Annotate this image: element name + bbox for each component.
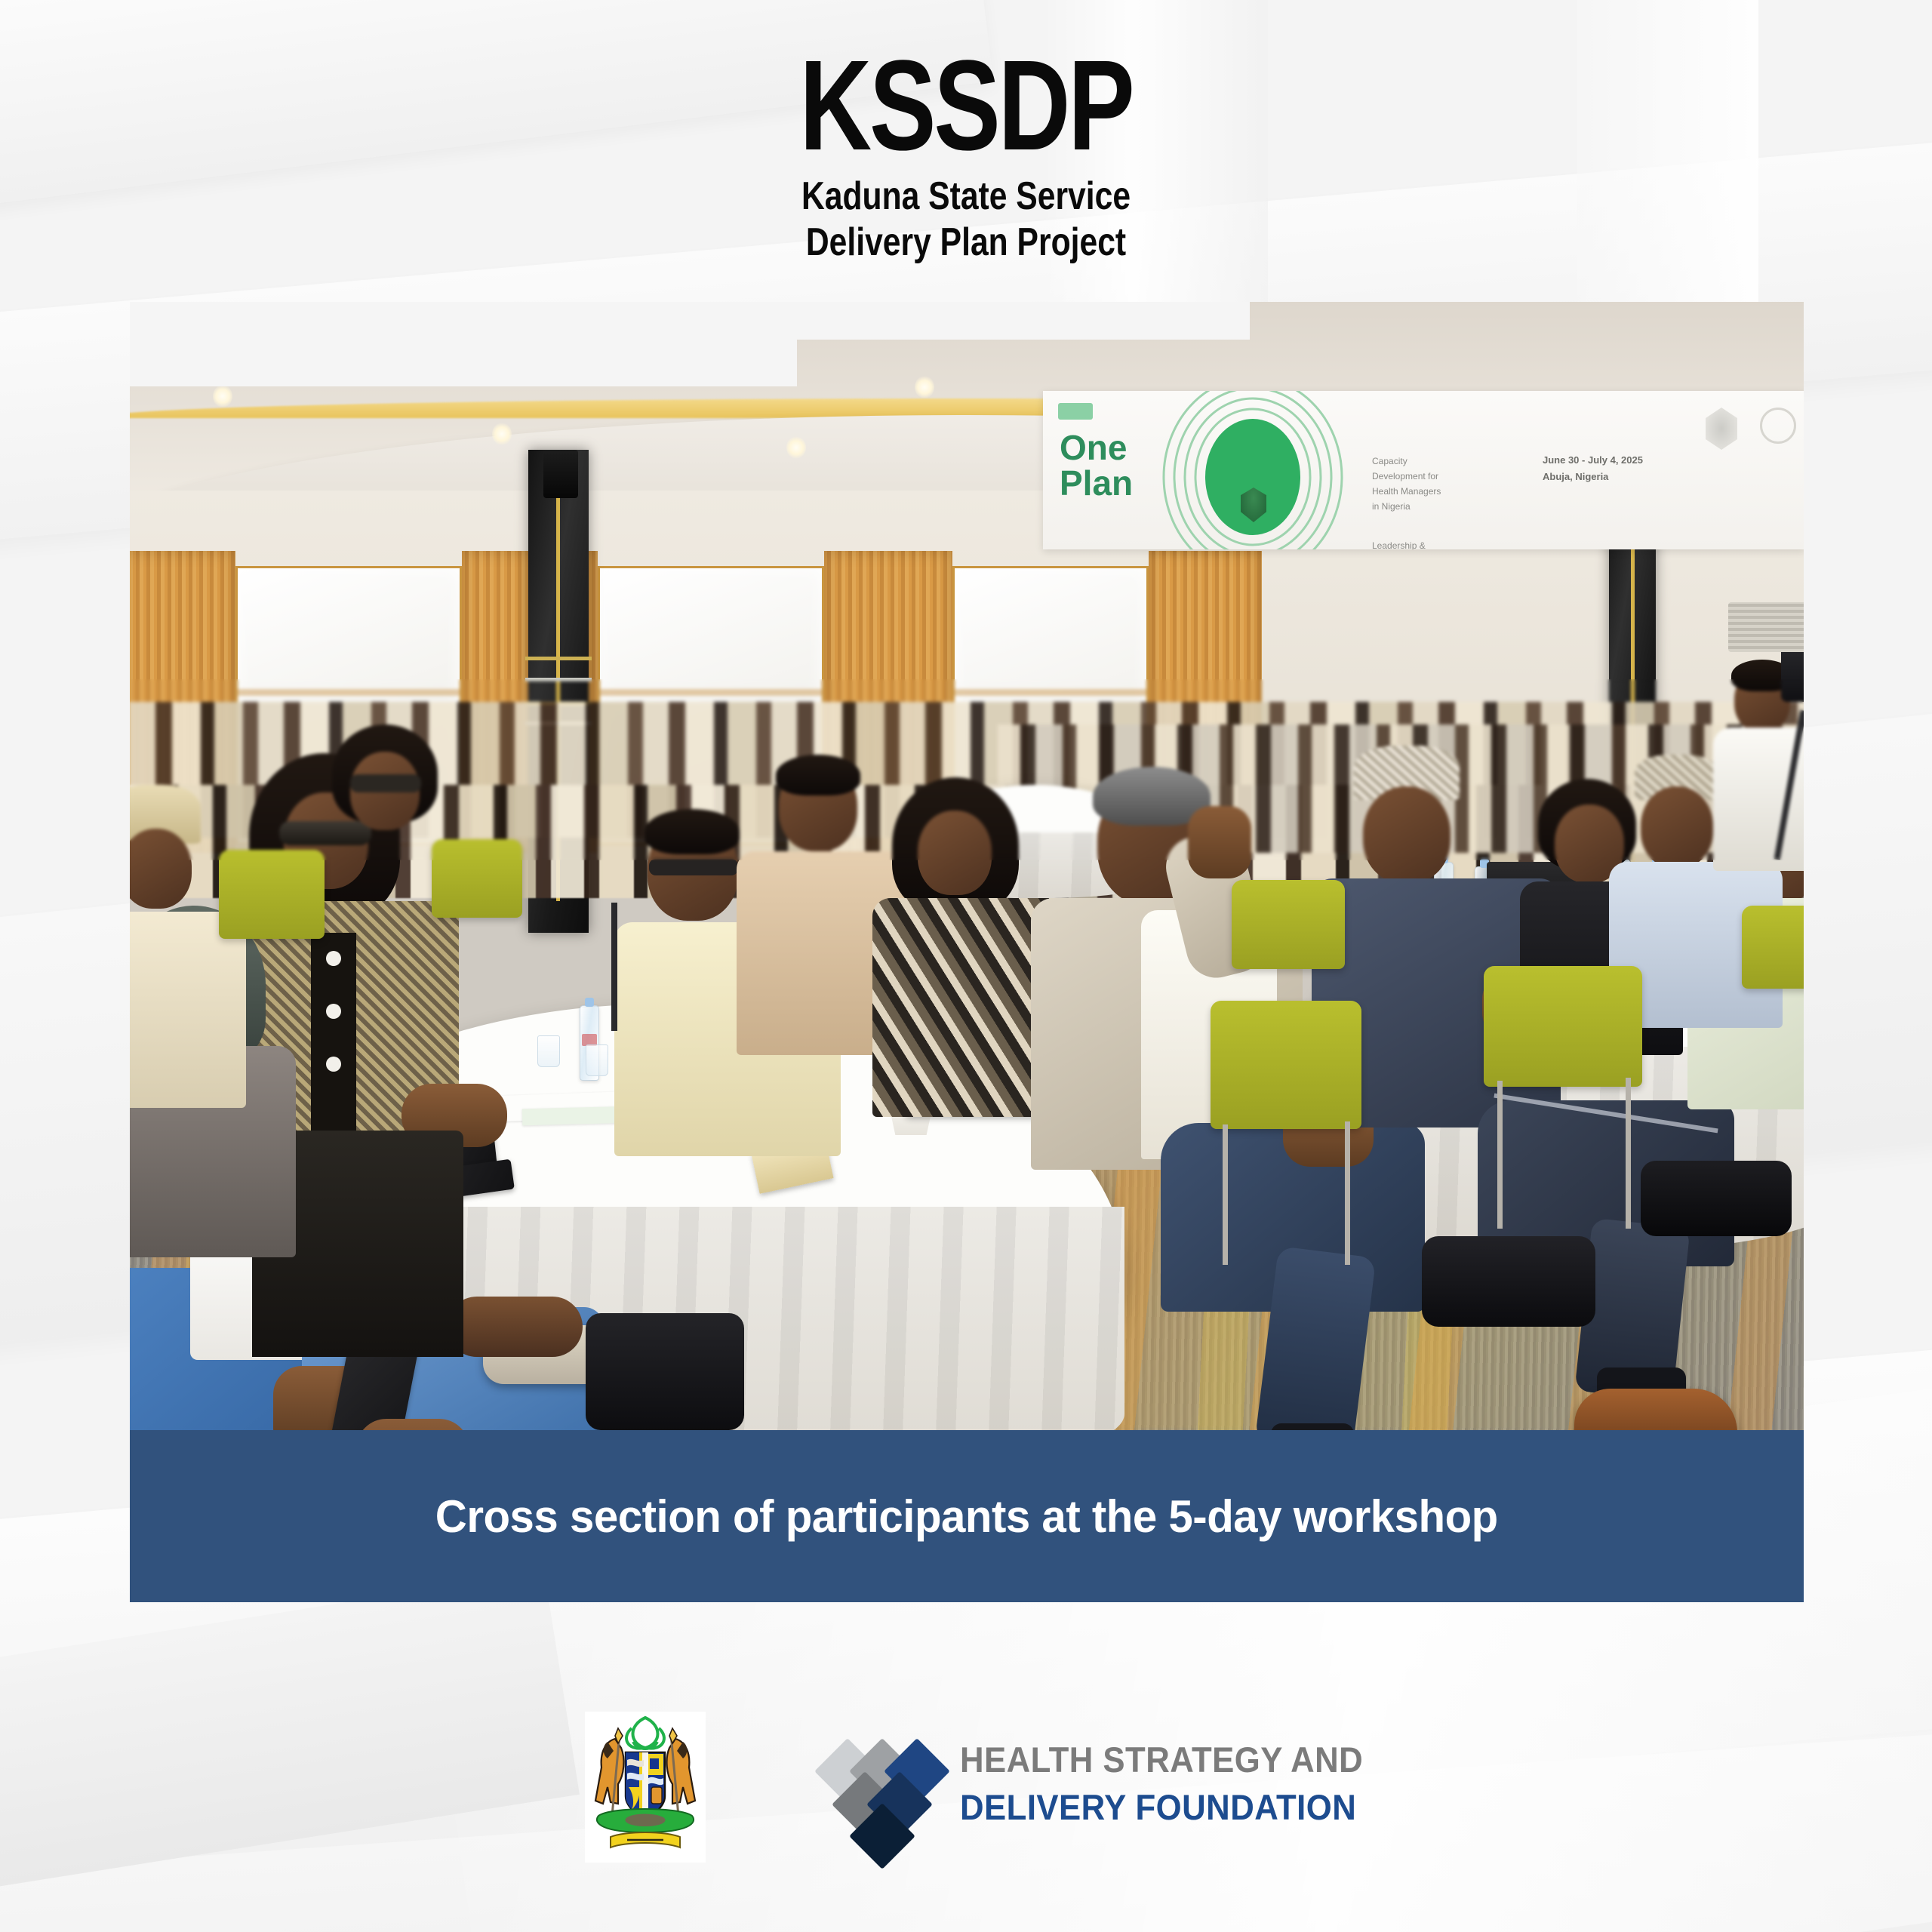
caption-bar: Cross section of participants at the 5-d… <box>130 1430 1804 1602</box>
ceiling-downlight <box>915 376 934 398</box>
air-conditioner-unit <box>1728 602 1804 652</box>
photo-step-mask-mid <box>797 302 1250 340</box>
banner-date-line: June 30 - July 4, 2025 <box>1543 453 1643 468</box>
page-subtitle: Kaduna State Service Delivery Plan Proje… <box>0 174 1932 266</box>
drinking-glass <box>586 1044 608 1076</box>
banner-footer-note: Leadership & <box>1372 539 1426 549</box>
chair-leg <box>1223 1124 1228 1265</box>
ceiling-speaker <box>543 450 578 498</box>
banner-ring-graphic <box>1155 391 1351 549</box>
footer: HEALTH STRATEGY AND DELIVERY FOUNDATION <box>0 1706 1932 1932</box>
banner-headline-line-2: Plan <box>1060 466 1133 501</box>
banner-body-line-4: in Nigeria <box>1372 500 1411 514</box>
photo-scene: One Plan Capacity Development for Health… <box>130 302 1804 1430</box>
banner-logo-left <box>1058 403 1093 420</box>
banner-location-line: Abuja, Nigeria <box>1543 469 1608 485</box>
conference-chair <box>1484 966 1642 1087</box>
participant-sock <box>1271 1423 1354 1430</box>
workshop-photo: One Plan Capacity Development for Health… <box>130 302 1804 1430</box>
bag-on-floor <box>1422 1236 1595 1327</box>
dress-black-trim <box>311 933 356 1159</box>
drinking-glass <box>537 1035 560 1067</box>
hsdf-wordmark-line-2: DELIVERY FOUNDATION <box>960 1786 1363 1828</box>
conference-chair <box>1742 906 1804 989</box>
banner-body-line-2: Development for <box>1372 469 1438 484</box>
hsdf-wordmark-line-1: HEALTH STRATEGY AND <box>960 1739 1363 1780</box>
chair-leg <box>1497 1081 1503 1229</box>
stage-banner: One Plan Capacity Development for Health… <box>1043 391 1804 549</box>
participant-foot <box>447 1297 583 1357</box>
hsdf-logo: HEALTH STRATEGY AND DELIVERY FOUNDATION <box>823 1734 1393 1832</box>
conference-chair <box>1232 880 1345 969</box>
banner-partner-logo-2 <box>1760 408 1796 444</box>
banner-body-line-1: Capacity <box>1372 454 1407 469</box>
bag-on-floor <box>586 1313 744 1430</box>
dress-button <box>326 951 341 966</box>
chair-leg <box>1626 1078 1631 1229</box>
banner-body-line-3: Health Managers <box>1372 485 1441 499</box>
kaduna-coat-of-arms <box>585 1712 706 1863</box>
ceiling-downlight <box>492 423 512 445</box>
banner-headline: One Plan <box>1060 430 1133 501</box>
banner-partner-logo-1 <box>1706 408 1737 450</box>
hsdf-wordmark: HEALTH STRATEGY AND DELIVERY FOUNDATION <box>960 1739 1393 1828</box>
ceiling-downlight <box>213 385 232 408</box>
page-subtitle-line-2: Delivery Plan Project <box>174 220 1758 266</box>
conference-chair <box>219 850 325 939</box>
conference-chair <box>1211 1001 1361 1129</box>
eyeglasses-icon <box>649 859 738 875</box>
dress-button <box>326 1057 341 1072</box>
column-gold-bar <box>525 657 592 660</box>
participant-torso <box>130 912 246 1108</box>
kaduna-coat-of-arms-graphic <box>585 1712 706 1863</box>
banner-headline-line-1: One <box>1060 430 1133 466</box>
ceiling-downlight <box>786 436 806 459</box>
hsdf-diamond-mark <box>823 1734 943 1832</box>
caption-text: Cross section of participants at the 5-d… <box>435 1491 1498 1543</box>
microphone-stand <box>611 903 617 1031</box>
depth-of-field-overlay <box>130 679 1804 860</box>
dress-button <box>326 1004 341 1019</box>
page-title-acronym: KSSDP <box>213 45 1720 168</box>
participant-shoe <box>1574 1389 1737 1430</box>
bag-on-floor <box>1641 1161 1792 1236</box>
page-subtitle-line-1: Kaduna State Service <box>174 174 1758 220</box>
photo-step-mask-left <box>130 302 797 386</box>
chair-leg <box>1345 1121 1350 1265</box>
header: KSSDP Kaduna State Service Delivery Plan… <box>0 45 1932 266</box>
